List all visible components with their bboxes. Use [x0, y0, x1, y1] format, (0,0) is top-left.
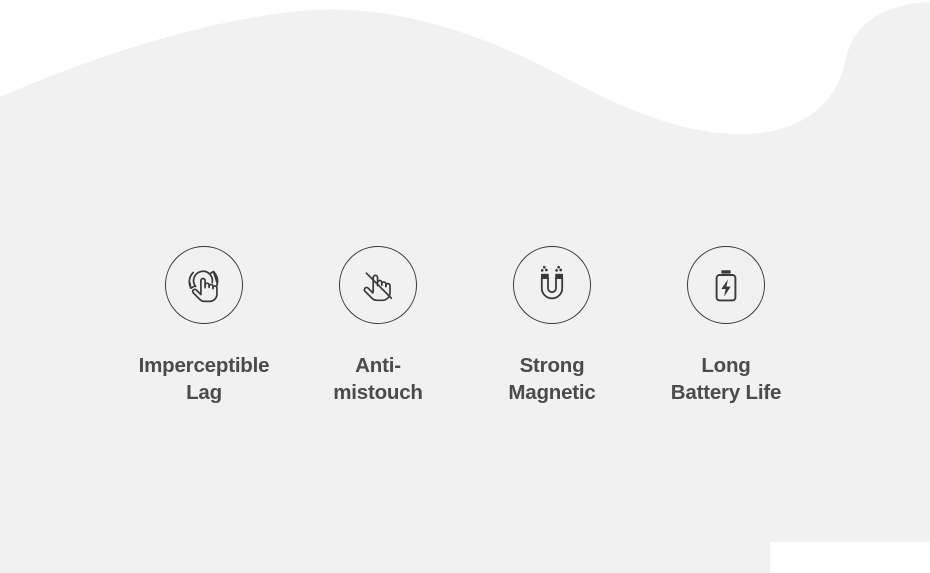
feature-item-imperceptible-lag: Imperceptible Lag	[117, 246, 291, 406]
feature-item-strong-magnetic: Strong Magnetic	[465, 246, 639, 406]
bottom-right-plate	[770, 542, 930, 573]
feature-highlight-page: Imperceptible Lag Anti- mistouch	[0, 0, 930, 573]
feature-label: Long Battery Life	[671, 353, 781, 406]
top-wave-decoration	[0, 0, 930, 150]
battery-bolt-icon	[687, 246, 765, 324]
feature-label: Imperceptible Lag	[139, 353, 270, 406]
feature-item-anti-mistouch: Anti- mistouch	[291, 246, 465, 406]
hand-slash-icon	[339, 246, 417, 324]
magnet-icon	[513, 246, 591, 324]
feature-label: Strong Magnetic	[508, 353, 595, 406]
feature-list: Imperceptible Lag Anti- mistouch	[0, 246, 930, 406]
hand-refresh-icon	[165, 246, 243, 324]
feature-item-long-battery-life: Long Battery Life	[639, 246, 813, 406]
feature-label: Anti- mistouch	[333, 353, 423, 406]
